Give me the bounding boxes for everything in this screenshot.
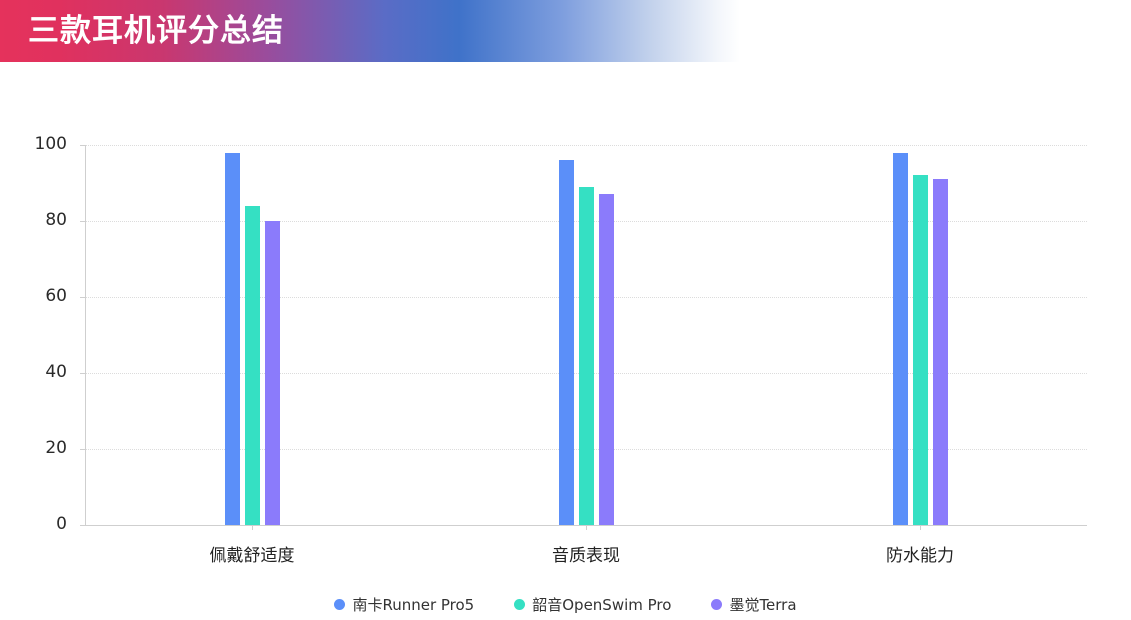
bar[interactable]	[579, 187, 594, 525]
x-axis-category-label: 佩戴舒适度	[132, 541, 372, 566]
legend-item[interactable]: 南卡Runner Pro5	[334, 594, 474, 615]
x-axis-category-label: 防水能力	[800, 541, 1040, 566]
legend-label: 韶音OpenSwim Pro	[532, 594, 671, 615]
bar[interactable]	[265, 221, 280, 525]
plot-area: 020406080100 佩戴舒适度音质表现防水能力	[85, 145, 1087, 587]
y-axis-tick-label: 80	[7, 210, 67, 230]
x-axis-tick	[586, 525, 587, 530]
legend-color-swatch	[711, 599, 722, 610]
bar[interactable]	[893, 153, 908, 525]
x-axis-tick	[252, 525, 253, 530]
y-axis-line	[85, 145, 86, 525]
y-axis-tick-label: 20	[7, 438, 67, 458]
legend-item[interactable]: 墨觉Terra	[711, 594, 796, 615]
bar-group	[225, 145, 280, 525]
header-banner: 三款耳机评分总结	[0, 0, 740, 62]
legend-label: 南卡Runner Pro5	[352, 594, 474, 615]
bar[interactable]	[933, 179, 948, 525]
bar[interactable]	[245, 206, 260, 525]
plot-inner: 020406080100 佩戴舒适度音质表现防水能力	[85, 145, 1087, 525]
legend-label: 墨觉Terra	[729, 594, 796, 615]
bar[interactable]	[913, 175, 928, 525]
page-title: 三款耳机评分总结	[28, 8, 284, 54]
bar-group	[559, 145, 614, 525]
chart-legend: 南卡Runner Pro5韶音OpenSwim Pro墨觉Terra	[0, 594, 1131, 615]
y-axis-tick-label: 40	[7, 362, 67, 382]
y-axis-tick-label: 60	[7, 286, 67, 306]
y-axis-tick-label: 0	[7, 514, 67, 534]
x-axis-tick	[920, 525, 921, 530]
bar[interactable]	[559, 160, 574, 525]
legend-color-swatch	[514, 599, 525, 610]
bar-chart: 020406080100 佩戴舒适度音质表现防水能力 南卡Runner Pro5…	[0, 62, 1131, 620]
bar[interactable]	[225, 153, 240, 525]
bar[interactable]	[599, 194, 614, 525]
legend-item[interactable]: 韶音OpenSwim Pro	[514, 594, 671, 615]
y-axis-tick-label: 100	[7, 134, 67, 154]
x-axis-category-label: 音质表现	[466, 541, 706, 566]
bar-group	[893, 145, 948, 525]
legend-color-swatch	[334, 599, 345, 610]
